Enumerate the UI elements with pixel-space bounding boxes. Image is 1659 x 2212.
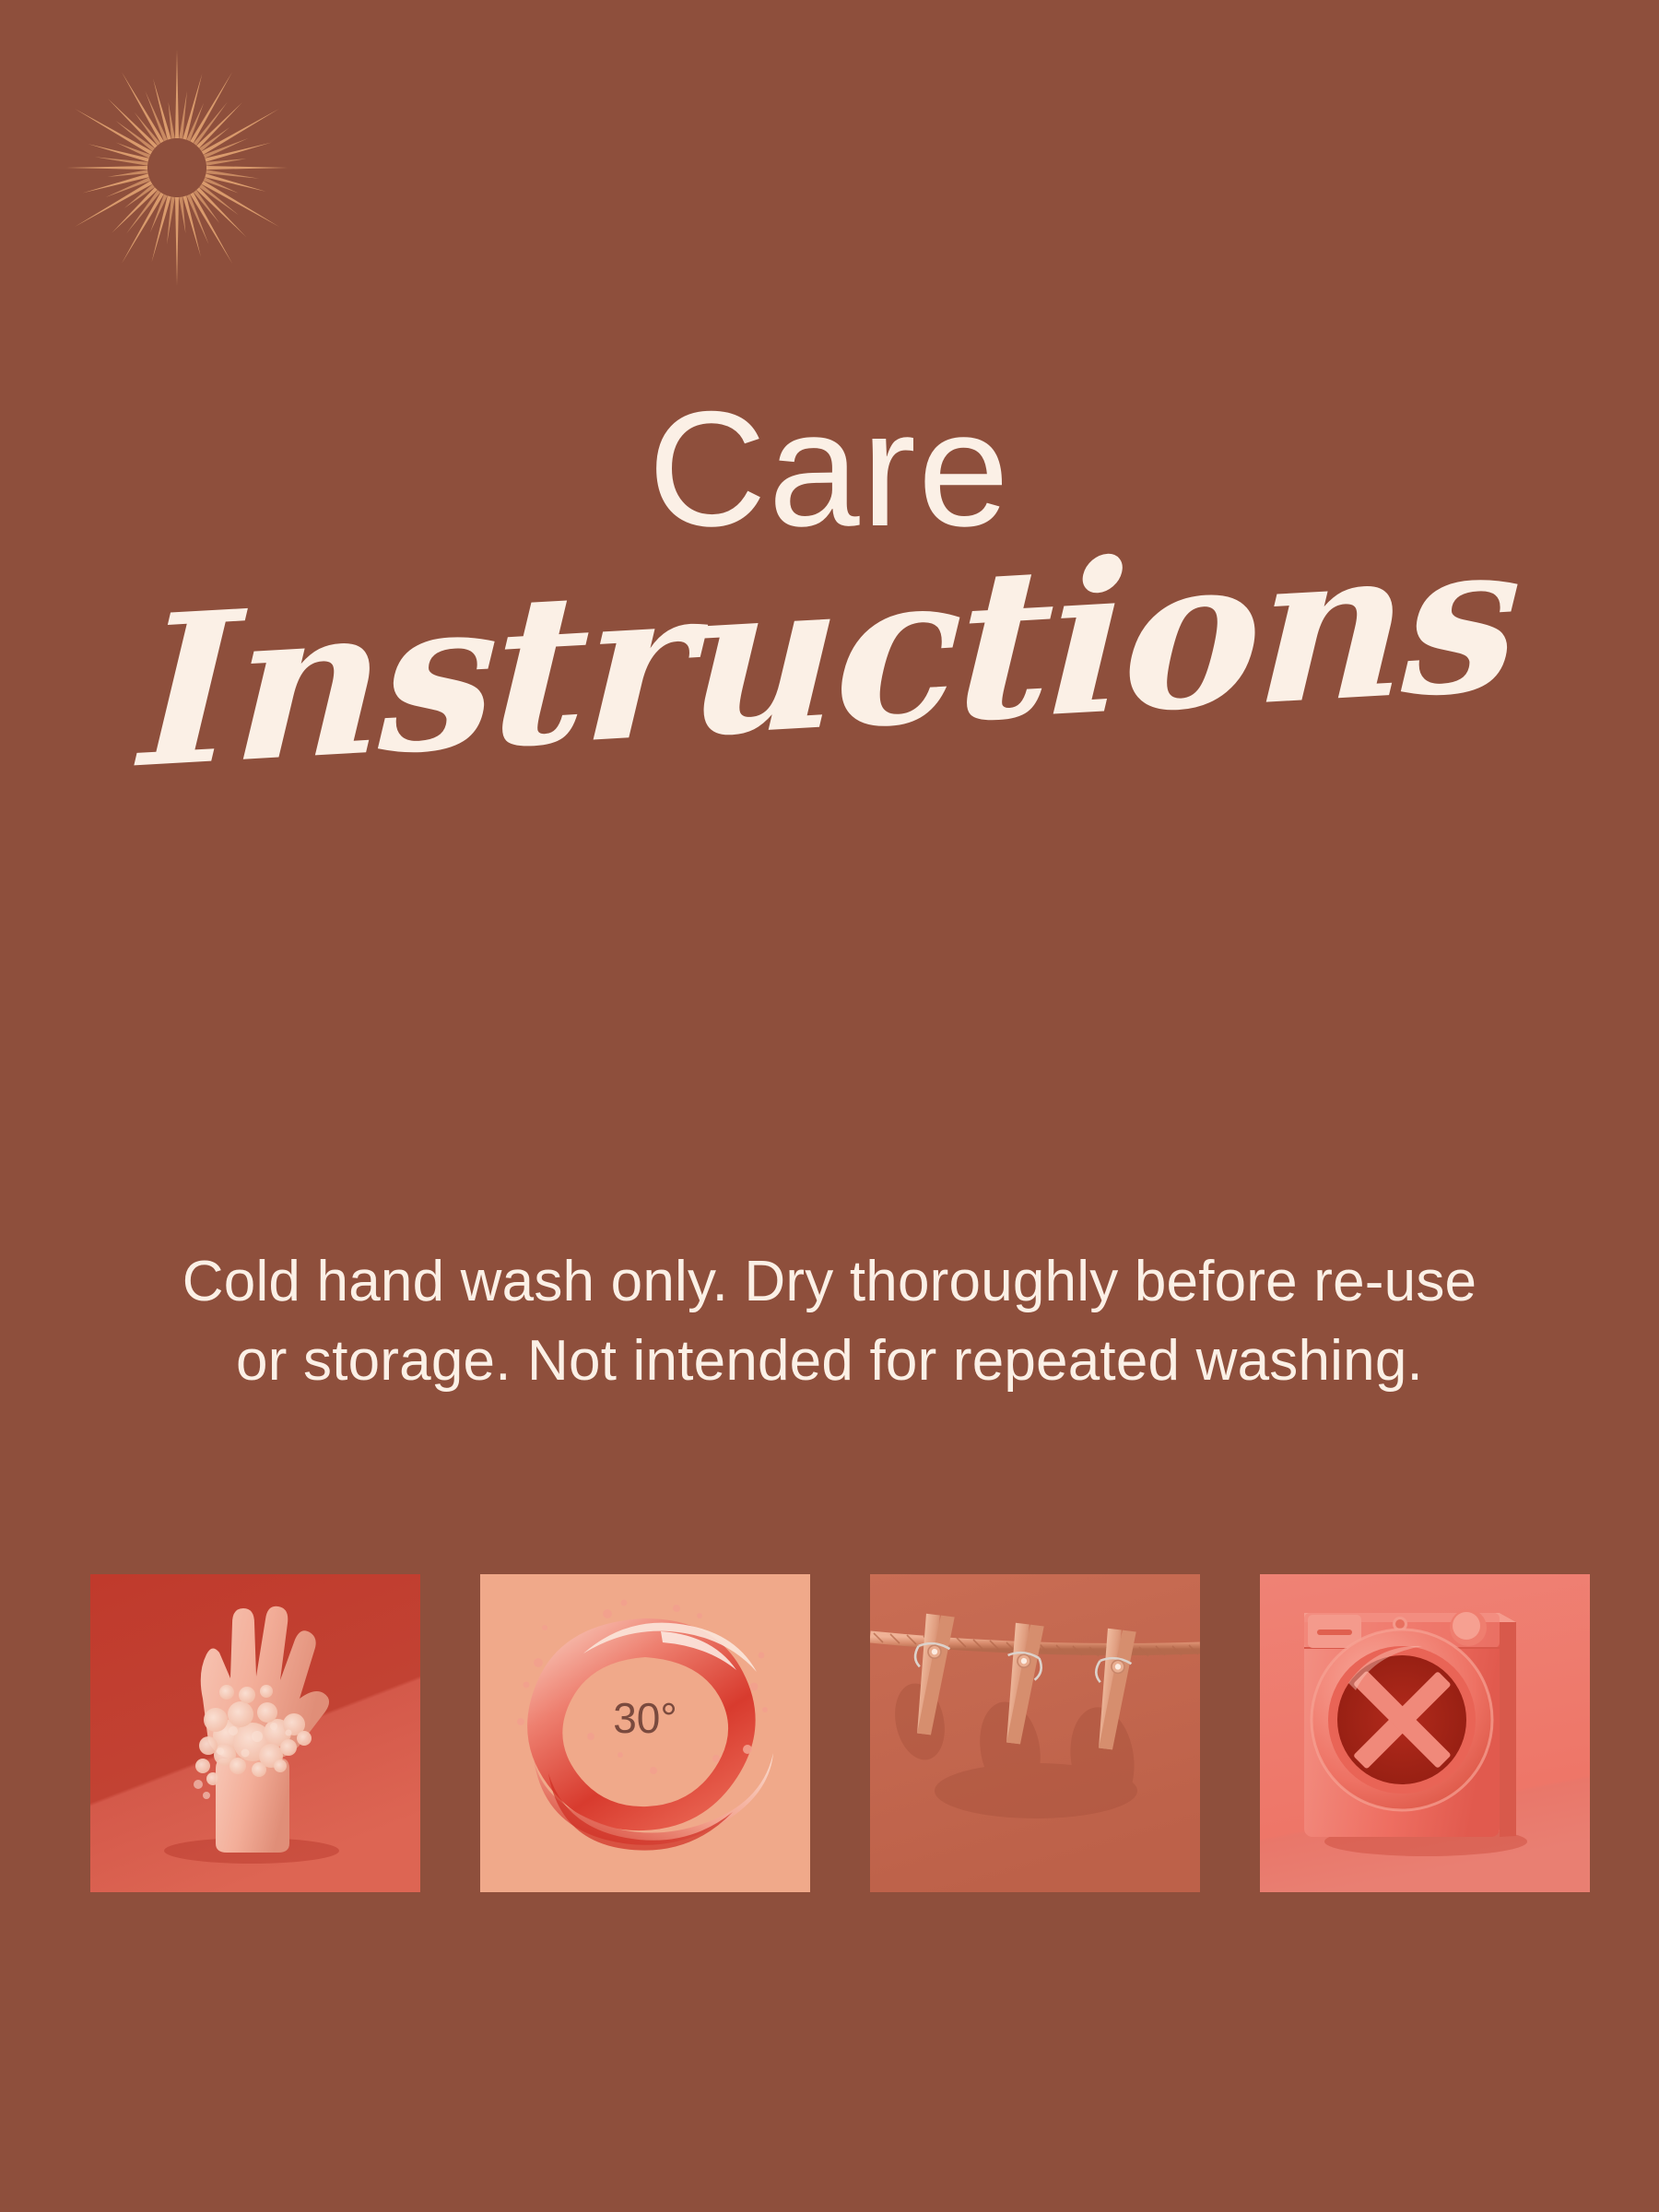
water-splash-icon: 30° — [480, 1574, 810, 1892]
care-instructions-text: Cold hand wash only. Dry thoroughly befo… — [175, 1242, 1484, 1400]
line-dry-tile — [870, 1574, 1200, 1892]
care-image-strip: 30° — [90, 1574, 1569, 1892]
temperature-label: 30° — [613, 1694, 677, 1742]
sunburst-center — [149, 140, 205, 195]
sunburst-icon — [57, 48, 297, 288]
sunburst-logo — [57, 48, 297, 288]
hand-wash-tile — [90, 1574, 420, 1892]
water-temperature-tile: 30° — [480, 1574, 810, 1892]
washing-machine-cross-icon — [1260, 1574, 1590, 1892]
headline-block: Care Instructions — [0, 387, 1659, 762]
soapy-hand-icon — [90, 1574, 420, 1892]
no-machine-wash-tile — [1260, 1574, 1590, 1892]
clothespin-line-icon — [870, 1574, 1200, 1892]
